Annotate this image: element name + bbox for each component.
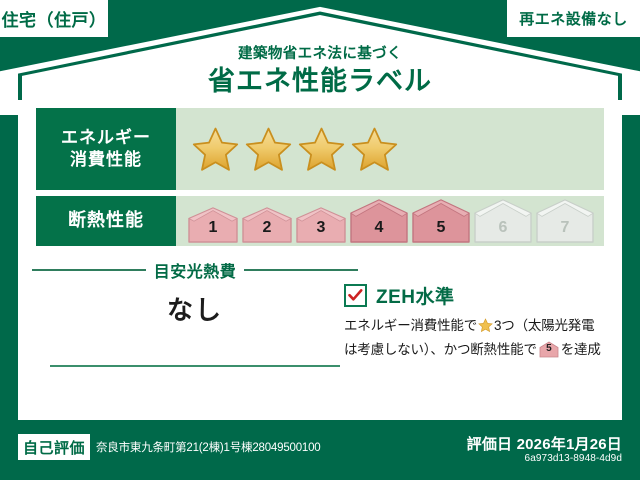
row-insulation-label: 断熱性能 (36, 196, 176, 246)
zeh-title: ZEH水準 (376, 282, 455, 309)
insulation-level-6: 6 (472, 198, 534, 244)
insulation-level-number: 6 (472, 219, 534, 237)
evaluation-date: 評価日 2026年1月26日 (467, 433, 622, 454)
insulation-level-number: 4 (348, 219, 410, 237)
cost-heading-rule-left (32, 269, 146, 271)
main-card: エネルギー 消費性能 断熱性能 1234567 目安光熱費 なし (18, 100, 622, 420)
evaluation-id: 6a973d13-8948-4d9d (525, 453, 622, 464)
badge-housing-type: 住宅（住戸） (0, 0, 108, 37)
badge-housing-type-label: 住宅（住戸） (2, 6, 107, 31)
house-icon-inline-number: 5 (539, 341, 559, 357)
insulation-level-5: 5 (410, 198, 472, 244)
zeh-description: エネルギー消費性能で3つ（太陽光発電は考慮しない）、かつ断熱性能で5を達成 (344, 316, 612, 361)
insulation-level-number: 1 (186, 219, 240, 237)
cost-heading-rule-right (244, 269, 358, 271)
row-energy-label: エネルギー 消費性能 (36, 108, 176, 190)
insulation-level-number: 2 (240, 219, 294, 237)
star-icon (351, 126, 398, 173)
check-icon (348, 289, 363, 302)
zeh-desc-part2: は考慮しない）、かつ断熱性能で (344, 342, 537, 357)
property-address: 奈良市東九条町第21(2棟)1号棟28049500100 (96, 439, 321, 455)
insulation-level-4: 4 (348, 198, 410, 244)
row-energy-label-line1: エネルギー (61, 127, 151, 149)
row-energy-value (176, 108, 604, 190)
zeh-desc-part3: を達成 (561, 342, 601, 357)
insulation-level-7: 7 (534, 198, 596, 244)
footer-bar: 自己評価 奈良市東九条町第21(2棟)1号棟28049500100 評価日 20… (0, 420, 640, 480)
insulation-level-number: 5 (410, 219, 472, 237)
cost-divider (50, 365, 340, 367)
star-rating (192, 126, 398, 173)
zeh-checkbox (344, 284, 367, 307)
row-insulation-label-text: 断熱性能 (68, 209, 144, 232)
row-insulation-value: 1234567 (176, 196, 604, 246)
insulation-level-3: 3 (294, 206, 348, 244)
badge-renewable-equipment-label: 再エネ設備なし (519, 8, 628, 29)
cost-heading: 目安光熱費 (32, 258, 358, 282)
insulation-level-scale: 1234567 (186, 198, 596, 244)
cost-value: なし (32, 290, 358, 327)
star-icon (245, 126, 292, 173)
star-icon (192, 126, 239, 173)
zeh-desc-stars: 3つ（太陽光発電 (494, 318, 594, 333)
row-energy-performance: エネルギー 消費性能 (36, 108, 604, 190)
house-icon-inline: 5 (539, 341, 559, 358)
cost-heading-label: 目安光熱費 (154, 258, 237, 282)
row-energy-label-line2: 消費性能 (70, 149, 142, 171)
star-icon (298, 126, 345, 173)
badge-renewable-equipment: 再エネ設備なし (507, 0, 640, 37)
self-evaluation-badge: 自己評価 (18, 434, 90, 460)
star-icon-inline (478, 321, 493, 336)
insulation-level-1: 1 (186, 206, 240, 244)
row-insulation-performance: 断熱性能 1234567 (36, 196, 604, 246)
self-evaluation-label: 自己評価 (23, 437, 85, 458)
title-main: 省エネ性能ラベル (0, 59, 640, 98)
insulation-level-number: 7 (534, 219, 596, 237)
zeh-desc-part1: エネルギー消費性能で (344, 318, 477, 333)
energy-label-root: 住宅（住戸） 再エネ設備なし 建築物省エネ法に基づく 省エネ性能ラベル エネルギ… (0, 0, 640, 480)
insulation-level-2: 2 (240, 206, 294, 244)
insulation-level-number: 3 (294, 219, 348, 237)
zeh-heading: ZEH水準 (344, 282, 612, 309)
zeh-block: ZEH水準 エネルギー消費性能で3つ（太陽光発電は考慮しない）、かつ断熱性能で5… (344, 282, 612, 361)
